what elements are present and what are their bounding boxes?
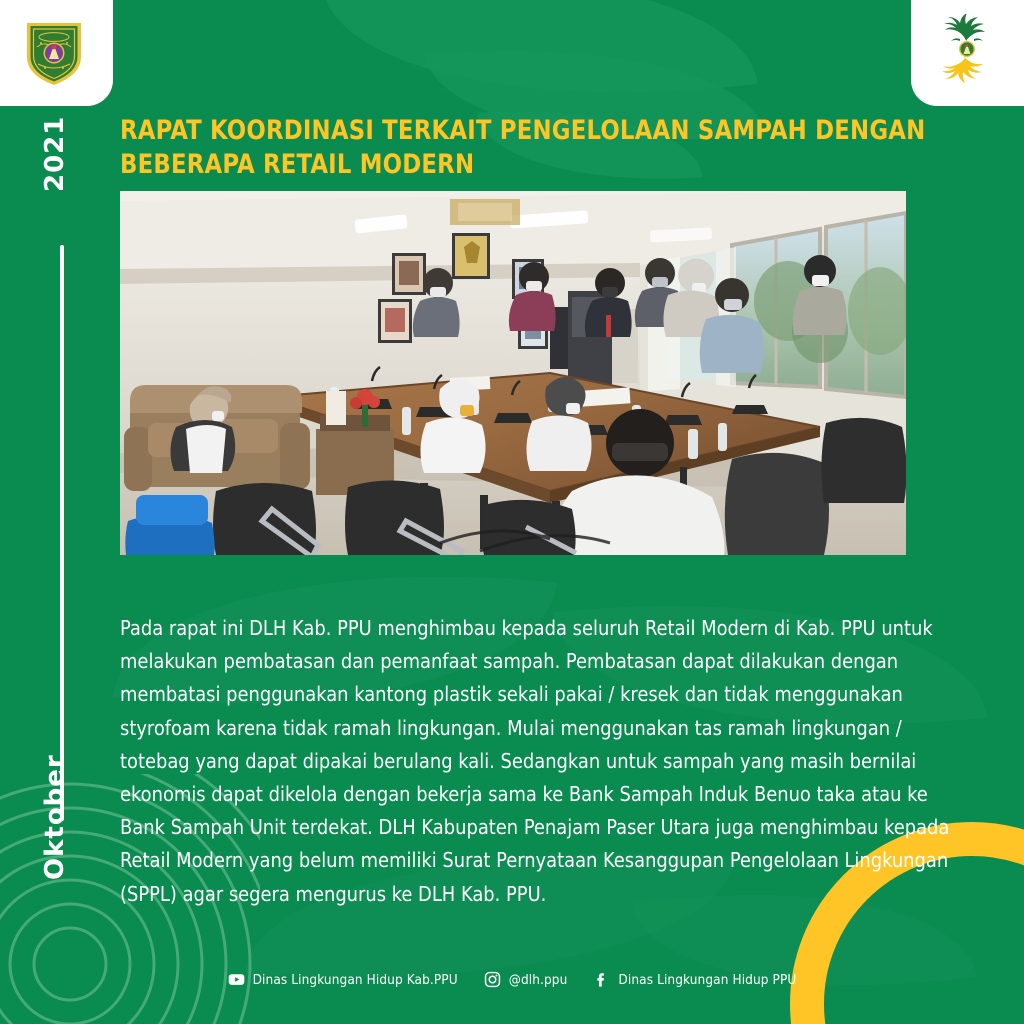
meeting-photo-illustration [120, 191, 906, 555]
youtube-icon [228, 971, 245, 988]
facebook-icon [593, 971, 610, 988]
rail-divider-line [60, 245, 64, 821]
social-facebook-label: Dinas Lingkungan Hidup PPU [618, 972, 796, 988]
dlh-tree-logo-icon [933, 14, 1001, 88]
kabupaten-emblem-icon [23, 17, 85, 87]
social-youtube[interactable]: Dinas Lingkungan Hidup Kab.PPU [228, 971, 458, 988]
meeting-photo [120, 191, 906, 555]
social-youtube-label: Dinas Lingkungan Hidup Kab.PPU [253, 972, 458, 988]
page-title: RAPAT KOORDINASI TERKAIT PENGELOLAAN SAM… [120, 114, 928, 182]
rail-month-label: Oktober [40, 754, 70, 880]
social-instagram[interactable]: @dlh.ppu [484, 971, 568, 988]
rail-year-label: 2021 [40, 116, 70, 192]
poster-canvas: 2021 Oktober RAPAT KOORDINASI TERKAIT PE… [0, 0, 1024, 1024]
social-instagram-label: @dlh.ppu [509, 972, 568, 988]
date-rail: 2021 Oktober [0, 150, 112, 930]
social-facebook[interactable]: Dinas Lingkungan Hidup PPU [593, 971, 796, 988]
footer-social-bar: Dinas Lingkungan Hidup Kab.PPU @dlh.ppu … [0, 971, 1024, 988]
instagram-icon [484, 971, 501, 988]
body-paragraph: Pada rapat ini DLH Kab. PPU menghimbau k… [120, 612, 954, 911]
